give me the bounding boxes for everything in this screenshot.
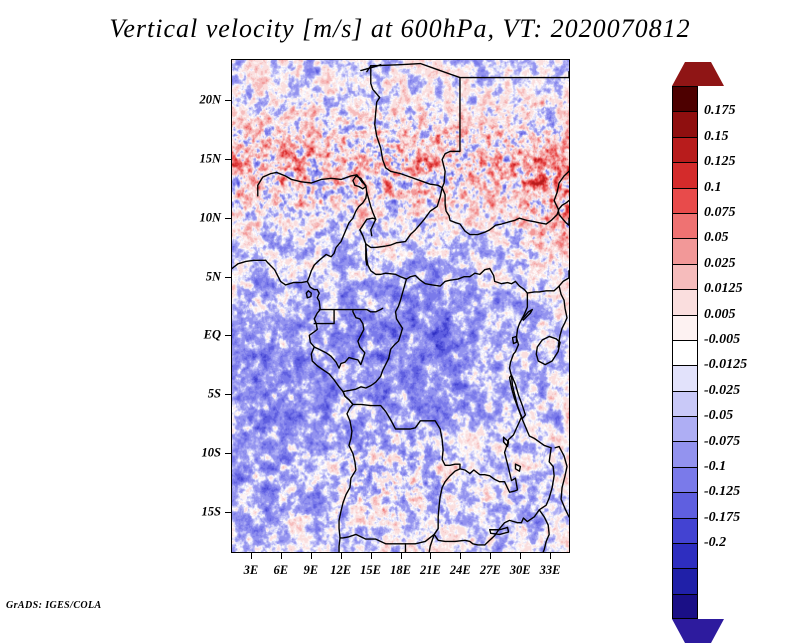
border-path [434,417,554,545]
border-path [340,469,460,544]
colorbar-label: -0.175 [704,510,740,526]
colorbar-cell [672,289,698,314]
colorbar-cell [672,264,698,289]
colorbar-label: 0.1 [704,180,722,196]
colorbar-cell [672,568,698,593]
grads-figure: Vertical velocity [m/s] at 600hPa, VT: 2… [0,0,800,618]
border-path [527,286,559,293]
footer-credit: GrADS: IGES/COLA [6,600,102,611]
map-frame [231,59,570,553]
colorbar-cell [672,213,698,238]
longitude-tick [460,553,461,559]
border-path [442,78,460,188]
border-path [306,291,311,298]
longitude-tick [520,553,521,559]
latitude-tick [225,159,231,160]
longitude-label: 3E [244,563,259,578]
border-path [314,310,334,324]
border-path [319,308,382,312]
border-path [366,244,528,293]
latitude-label: 20N [199,93,221,108]
border-path [360,188,442,248]
border-path [266,260,356,552]
border-path [515,464,520,471]
longitude-tick [490,553,491,559]
page-title: Vertical velocity [m/s] at 600hPa, VT: 2… [0,14,800,44]
colorbar-cell [672,315,698,340]
colorbar-label: -0.075 [704,434,740,450]
latitude-tick [225,394,231,395]
longitude-tick [550,553,551,559]
longitude-tick [401,553,402,559]
latitude-tick [225,218,231,219]
border-path [307,192,366,281]
longitude-label: 33E [540,563,561,578]
colorbar-label: -0.2 [704,535,726,551]
colorbar-label: -0.025 [704,383,740,399]
longitude-tick [311,553,312,559]
colorbar-cell [672,441,698,466]
border-path [371,66,569,235]
border-path [513,336,517,343]
longitude-label: 9E [303,563,318,578]
latitude-label: 5N [206,269,221,284]
border-path [367,192,376,219]
longitude-tick [251,553,252,559]
longitude-label: 18E [390,563,411,578]
longitude-label: 15E [360,563,381,578]
colorbar-cell [672,86,698,111]
longitude-label: 6E [274,563,289,578]
latitude-tick [225,100,231,101]
colorbar-cell [672,238,698,263]
colorbar-cells [672,86,698,619]
colorbar-cell [672,594,698,619]
longitude-label: 12E [330,563,351,578]
latitude-label: 5S [208,387,221,402]
border-path [232,260,266,268]
border-path [360,230,363,236]
latitude-label: 10N [199,210,221,225]
longitude-tick [371,553,372,559]
colorbar-label: -0.0125 [704,357,747,373]
latitude-label: EQ [204,328,221,343]
longitude-label: 30E [510,563,531,578]
colorbar-bottom-arrow [672,619,724,643]
latitude-label: 10S [202,446,221,461]
colorbar-label: 0.025 [704,256,736,272]
colorbar-label: 0.005 [704,307,736,323]
country-borders [232,60,569,552]
colorbar-label: -0.1 [704,459,726,475]
longitude-label: 21E [420,563,441,578]
colorbar-label: 0.075 [704,205,736,221]
colorbar: 0.1750.150.1250.10.0750.050.0250.01250.0… [672,62,792,557]
colorbar-label: -0.125 [704,484,740,500]
colorbar-label: 0.15 [704,129,729,145]
longitude-label: 27E [480,563,501,578]
colorbar-cell [672,188,698,213]
longitude-tick [341,553,342,559]
colorbar-label: 0.05 [704,230,729,246]
latitude-tick [225,453,231,454]
colorbar-cell [672,543,698,568]
colorbar-label: -0.05 [704,408,733,424]
longitude-label: 24E [450,563,471,578]
border-path [343,392,353,405]
border-path [558,278,569,347]
colorbar-cell [672,467,698,492]
border-path [314,310,365,369]
colorbar-cell [672,137,698,162]
latitude-tick [225,335,231,336]
colorbar-cell [672,162,698,187]
colorbar-cell [672,365,698,390]
border-path [555,447,559,448]
colorbar-cell [672,492,698,517]
border-path [353,176,366,189]
latitude-label: 15S [202,504,221,519]
border-path [539,510,549,552]
border-path [504,437,509,446]
longitude-tick [430,553,431,559]
border-path [353,404,460,468]
colorbar-label: 0.125 [704,154,736,170]
latitude-tick [225,277,231,278]
colorbar-label: 0.175 [704,103,736,119]
colorbar-cell [672,518,698,543]
border-path [536,336,560,364]
colorbar-cell [672,416,698,441]
border-path [371,64,460,78]
colorbar-label: 0.0125 [704,281,743,297]
border-path [559,447,569,517]
colorbar-cell [672,391,698,416]
border-path [554,171,569,225]
colorbar-top-arrow [672,62,724,86]
latitude-tick [225,512,231,513]
latitude-label: 15N [199,151,221,166]
border-path [343,279,406,391]
colorbar-cell [672,111,698,136]
map-plot-area: 20N15N10N5NEQ5S10S15S 3E6E9E12E15E18E21E… [231,59,570,553]
border-path [258,172,367,195]
colorbar-cell [672,340,698,365]
colorbar-label: -0.005 [704,332,740,348]
longitude-tick [281,553,282,559]
